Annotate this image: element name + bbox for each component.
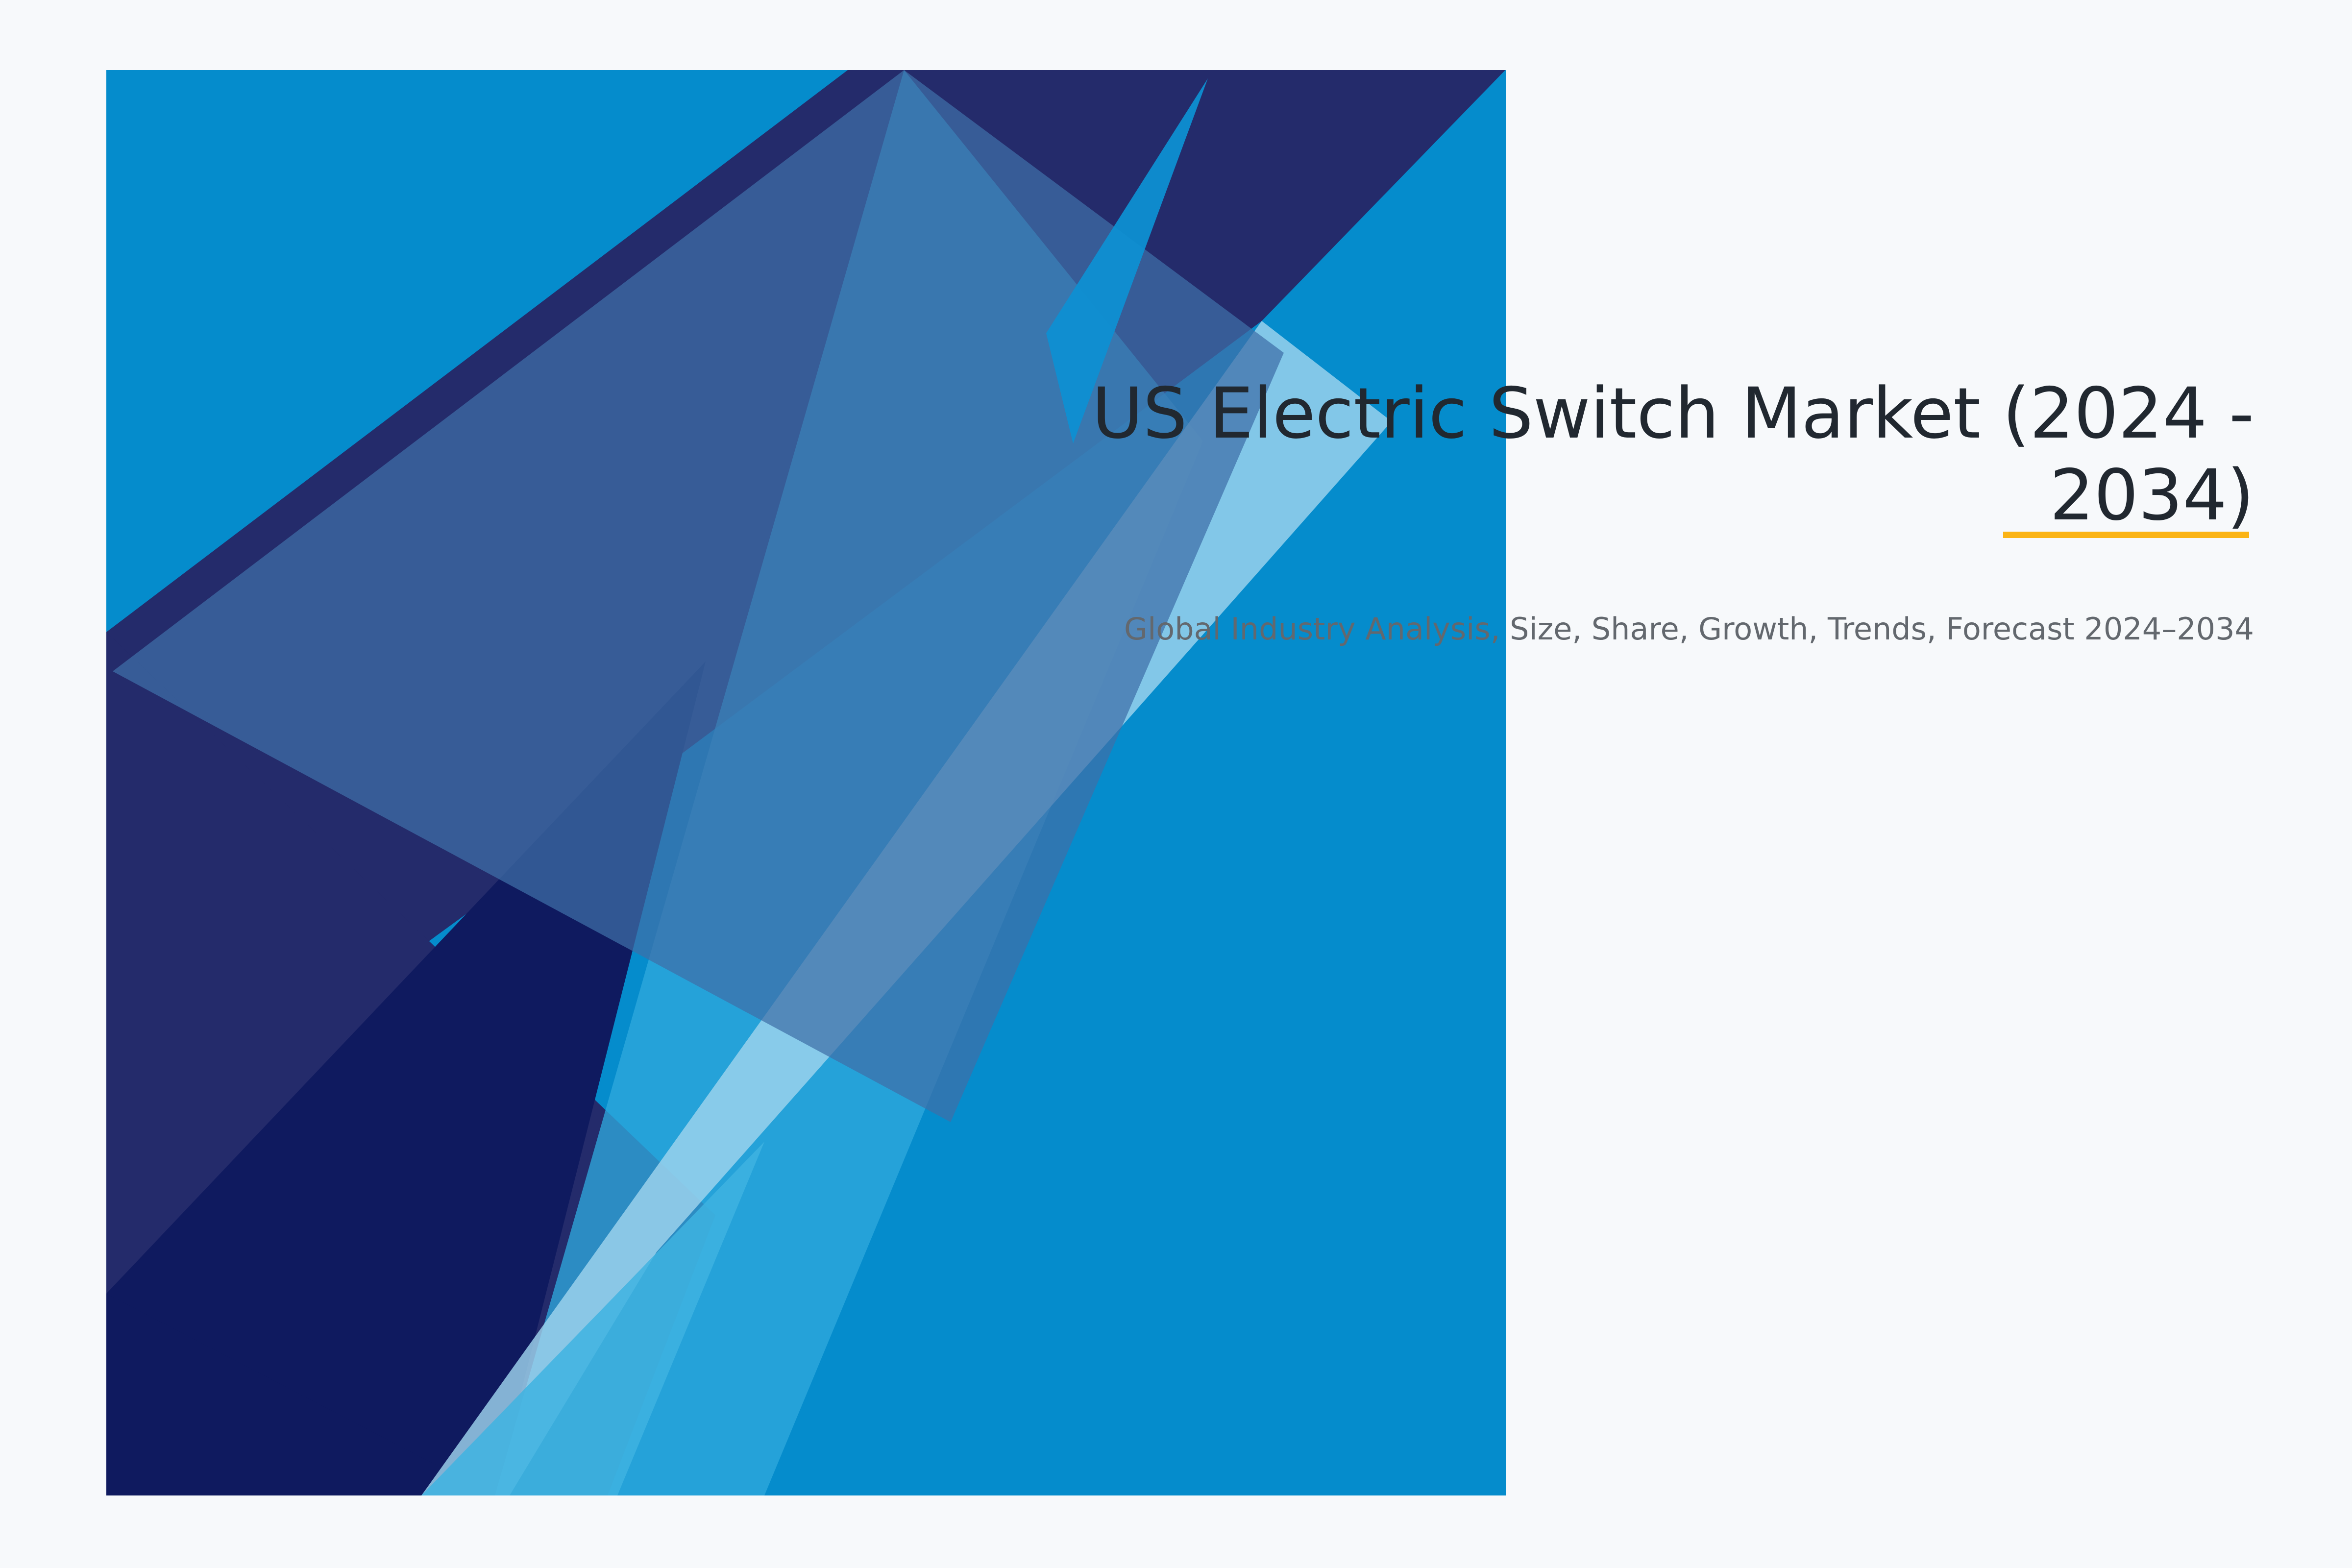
shape-deep-navy-spike	[106, 661, 706, 1495]
page-title: US Electric Switch Market (2024 - 2034)	[985, 372, 2254, 537]
title-slide: US Electric Switch Market (2024 - 2034) …	[0, 0, 2352, 1568]
abstract-geometric-artwork	[0, 0, 2352, 1568]
title-wrap: US Electric Switch Market (2024 - 2034)	[985, 372, 2254, 537]
page-subtitle: Global Industry Analysis, Size, Share, G…	[985, 537, 2254, 649]
shape-bright-blue-base	[106, 70, 1506, 1495]
shape-sky-blue-wedge	[495, 70, 1203, 1495]
slide-text-block: US Electric Switch Market (2024 - 2034) …	[985, 372, 2254, 649]
shape-bottom-sky-accent	[421, 1142, 764, 1495]
shape-deep-navy-block	[106, 1294, 495, 1495]
shape-navy-lower-left	[106, 632, 715, 1495]
